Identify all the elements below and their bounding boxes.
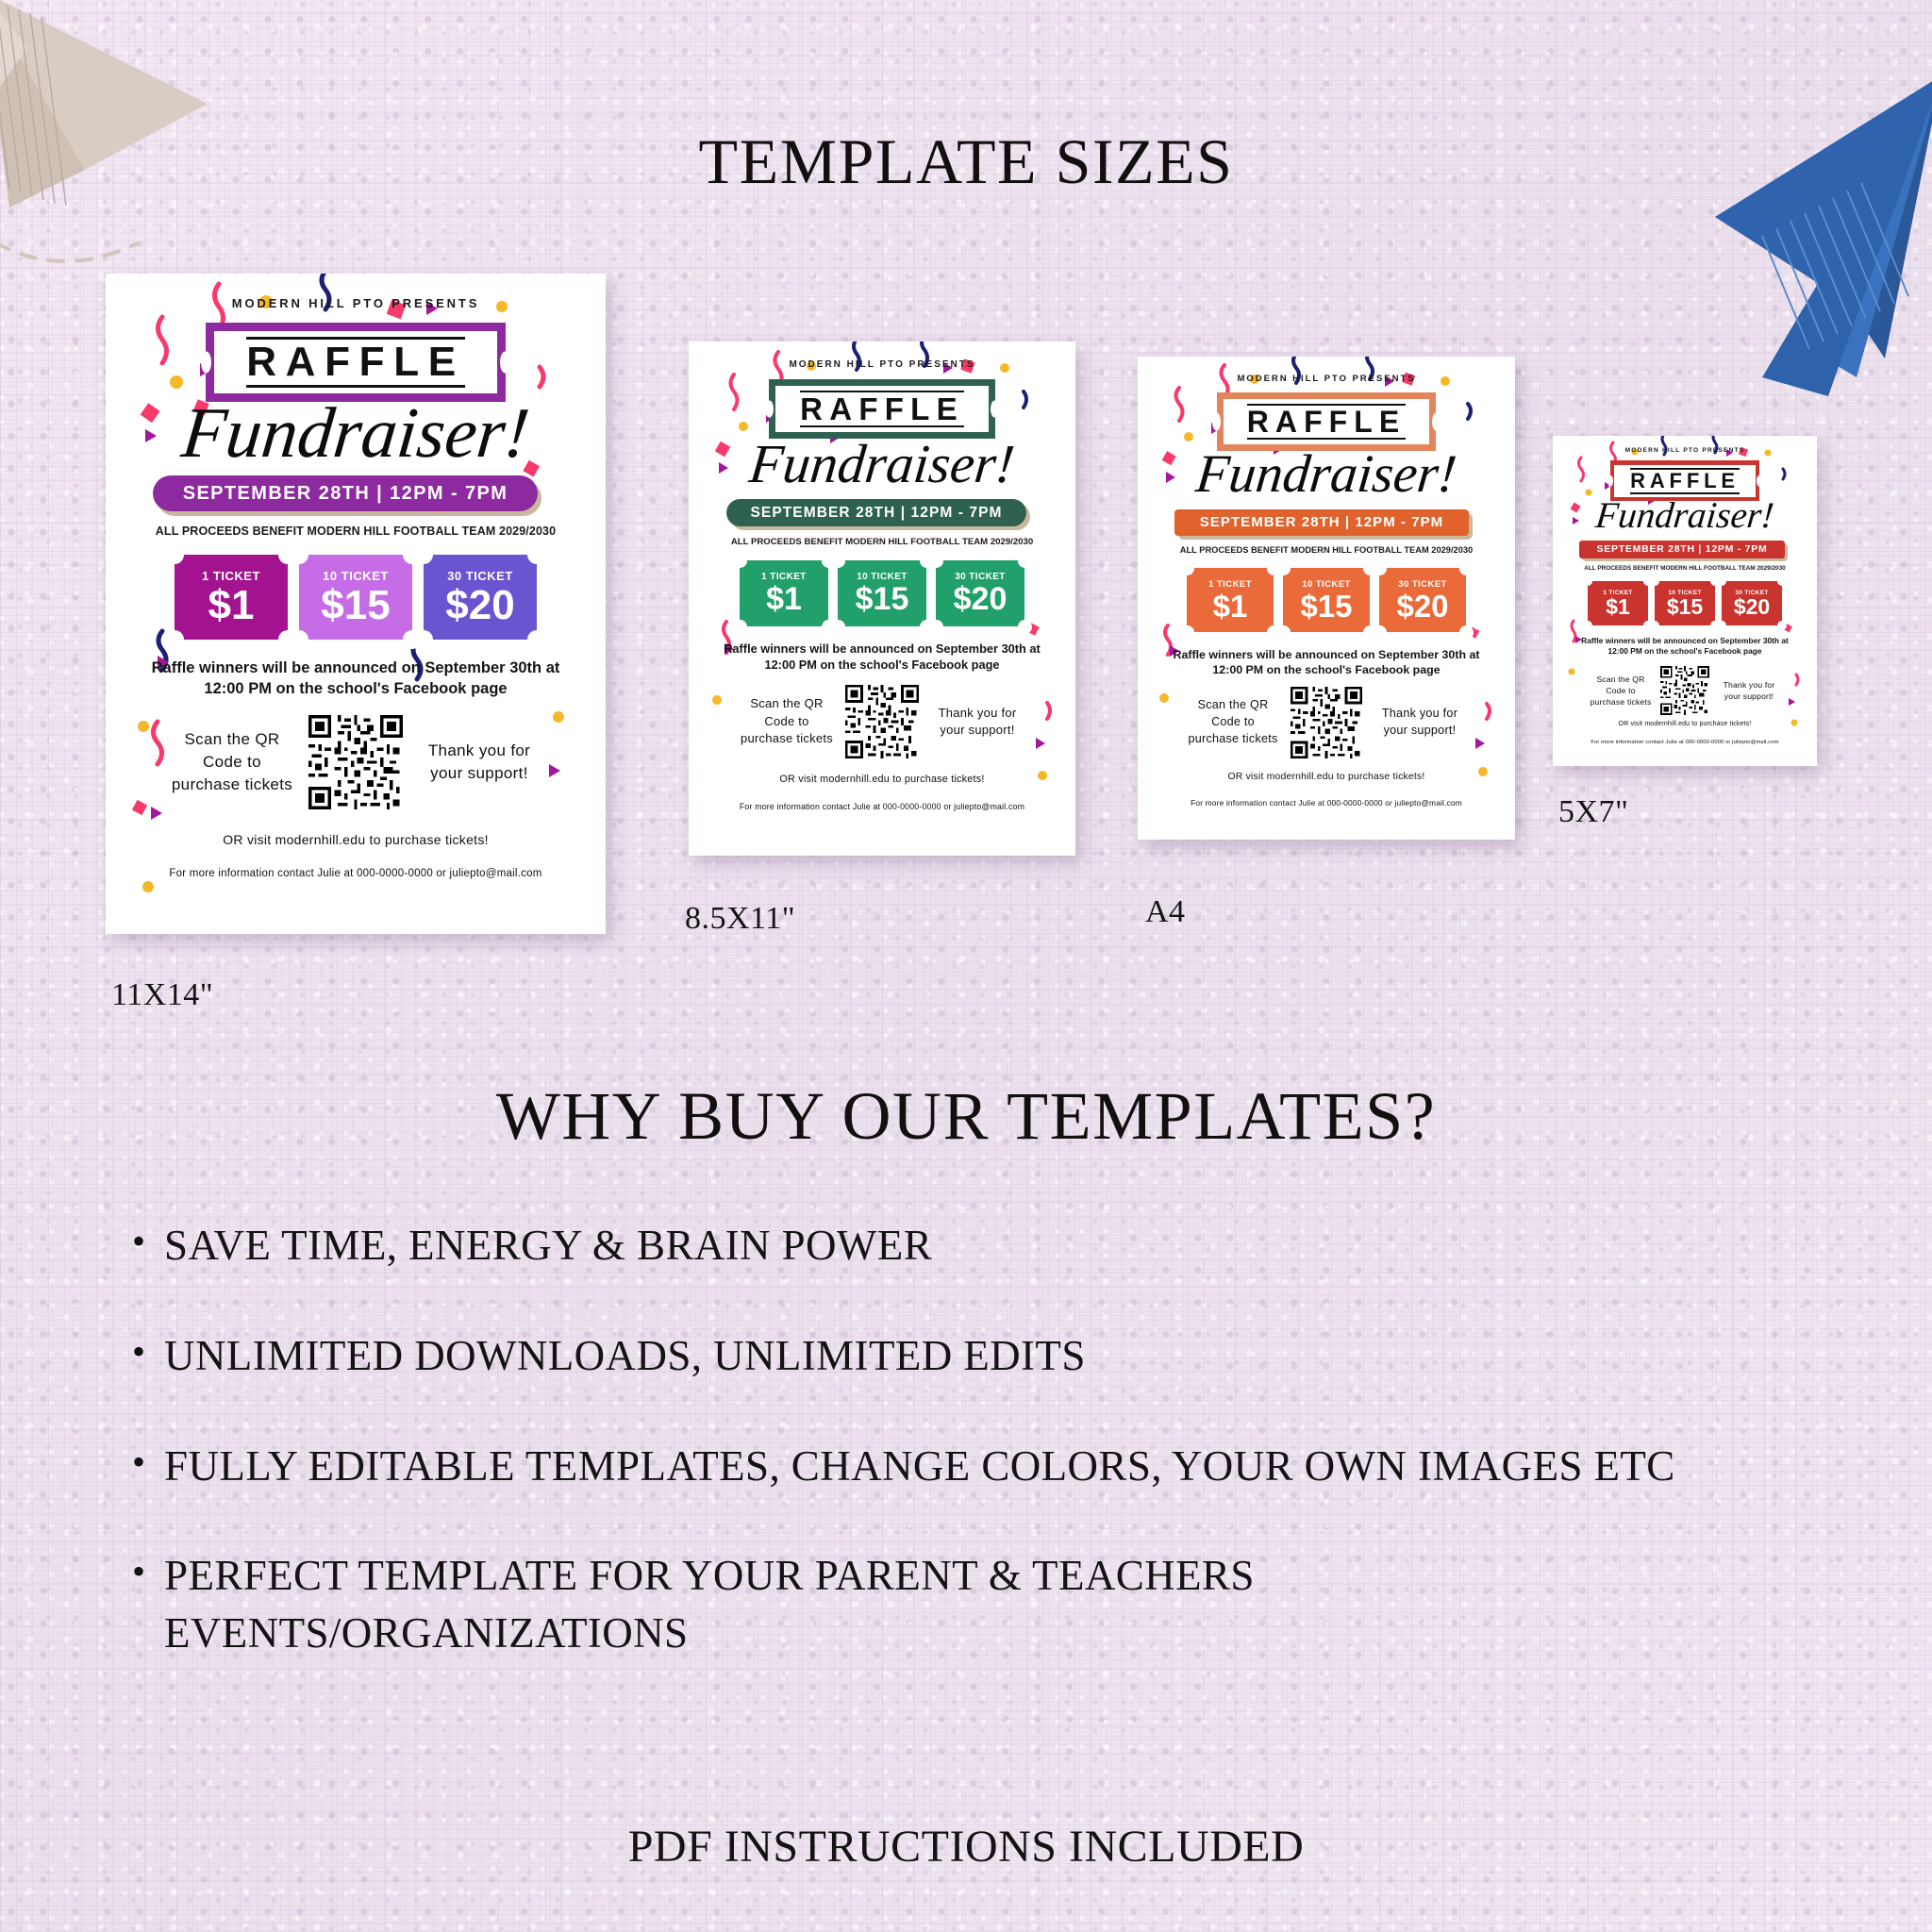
list-item: • FULLY EDITABLE TEMPLATES, CHANGE COLOR… <box>132 1438 1821 1495</box>
announce-line-1: Raffle winners will be announced on Sept… <box>708 641 1057 658</box>
ticket-label: 1 TICKET <box>202 569 260 583</box>
ticket-price: $20 <box>1396 591 1448 622</box>
ticket-option[interactable]: 30 TICKET $20 <box>1722 581 1782 625</box>
announce-line-2: 12:00 PM on the school's Facebook page <box>1155 662 1498 677</box>
scan-instructions-text: Scan the QR Code to purchase tickets <box>1187 697 1279 748</box>
ticket-price: $20 <box>954 583 1008 615</box>
announce-line-1: Raffle winners will be announced on Sept… <box>1155 647 1498 662</box>
flyer-proceeds-text: ALL PROCEEDS BENEFIT MODERN HILL FOOTBAL… <box>1553 565 1817 572</box>
contact-info-text: For more information contact Julie at 00… <box>1145 798 1507 808</box>
size-label-11x14: 11X14" <box>111 977 213 1013</box>
flyer-presents-text: MODERN HILL PTO PRESENTS <box>689 359 1075 370</box>
ticket-option[interactable]: 30 TICKET $20 <box>936 560 1024 626</box>
flyer-fundraiser-word: Fundraiser! <box>689 432 1075 495</box>
ticket-price: $15 <box>321 585 390 626</box>
list-item: • UNLIMITED DOWNLOADS, UNLIMITED EDITS <box>132 1327 1821 1385</box>
size-label-85x11: 8.5X11" <box>685 901 795 937</box>
ticket-option[interactable]: 1 TICKET $1 <box>1187 568 1274 632</box>
page-title-why-buy: WHY BUY OUR TEMPLATES? <box>0 1077 1932 1156</box>
ticket-price: $20 <box>1734 596 1770 618</box>
qr-code-image[interactable] <box>1291 687 1362 758</box>
announce-line-2: 12:00 PM on the school's Facebook page <box>132 679 579 700</box>
contact-info-text: For more information contact Julie at 00… <box>1558 740 1811 745</box>
flyer-raffle-word: RAFFLE <box>800 391 964 427</box>
ticket-price: $15 <box>856 583 909 615</box>
or-visit-text: OR visit modernhill.edu to purchase tick… <box>1553 721 1817 727</box>
list-item: • PERFECT TEMPLATE FOR YOUR PARENT & TEA… <box>132 1547 1821 1662</box>
bullet-icon: • <box>132 1333 145 1371</box>
flyer-preview-85x11[interactable]: MODERN HILL PTO PRESENTS RAFFLE Fundrais… <box>689 341 1075 856</box>
ticket-label: 30 TICKET <box>1398 579 1446 590</box>
ticket-option[interactable]: 1 TICKET $1 <box>175 555 288 640</box>
announce-line-2: 12:00 PM on the school's Facebook page <box>1564 646 1806 657</box>
contact-info-text: For more information contact Julie at 00… <box>696 802 1068 811</box>
qr-code-image[interactable] <box>845 685 919 758</box>
ticket-label: 30 TICKET <box>447 569 513 583</box>
ticket-option[interactable]: 10 TICKET $15 <box>299 555 412 640</box>
contact-info-text: For more information contact Julie at 00… <box>115 868 596 879</box>
size-label-a4: A4 <box>1145 894 1186 930</box>
ticket-price: $15 <box>1300 591 1352 622</box>
ticket-option[interactable]: 10 TICKET $15 <box>838 560 926 626</box>
flyer-presents-text: MODERN HILL PTO PRESENTS <box>1553 447 1817 454</box>
or-visit-text: OR visit modernhill.edu to purchase tick… <box>689 774 1075 785</box>
thank-you-text: Thank you for your support! <box>930 705 1024 740</box>
flyer-raffle-word: RAFFLE <box>1247 404 1406 440</box>
or-visit-text: OR visit modernhill.edu to purchase tick… <box>106 832 606 847</box>
pdf-instructions-note: PDF INSTRUCTIONS INCLUDED <box>0 1821 1932 1873</box>
flyer-preview-a4[interactable]: MODERN HILL PTO PRESENTS RAFFLE Fundrais… <box>1138 357 1515 840</box>
announce-line-1: Raffle winners will be announced on Sept… <box>1564 636 1806 646</box>
benefit-text: PERFECT TEMPLATE FOR YOUR PARENT & TEACH… <box>164 1547 1768 1662</box>
ticket-option[interactable]: 30 TICKET $20 <box>424 555 537 640</box>
flyer-raffle-word: RAFFLE <box>246 337 465 388</box>
ticket-price: $20 <box>445 585 514 626</box>
benefits-list: • SAVE TIME, ENERGY & BRAIN POWER • UNLI… <box>132 1217 1821 1715</box>
ticket-option[interactable]: 10 TICKET $15 <box>1655 581 1715 625</box>
ticket-price: $15 <box>1667 596 1703 618</box>
scan-instructions-text: Scan the QR Code to purchase tickets <box>740 695 834 747</box>
scan-instructions-text: Scan the QR Code to purchase tickets <box>171 728 293 796</box>
flyer-fundraiser-word: Fundraiser! <box>1138 443 1515 505</box>
or-visit-text: OR visit modernhill.edu to purchase tick… <box>1138 772 1515 782</box>
page-title-template-sizes: TEMPLATE SIZES <box>0 125 1932 199</box>
size-label-5x7: 5X7" <box>1558 794 1628 830</box>
flyer-date-pill: SEPTEMBER 28TH | 12PM - 7PM <box>1579 541 1785 558</box>
ticket-price: $1 <box>766 583 802 615</box>
qr-code-image[interactable] <box>1660 666 1709 715</box>
bullet-icon: • <box>132 1443 145 1481</box>
flyer-preview-5x7[interactable]: MODERN HILL PTO PRESENTS RAFFLE Fundrais… <box>1553 436 1817 766</box>
bullet-icon: • <box>132 1223 145 1260</box>
flyer-proceeds-text: ALL PROCEEDS BENEFIT MODERN HILL FOOTBAL… <box>106 525 606 538</box>
flyer-proceeds-text: ALL PROCEEDS BENEFIT MODERN HILL FOOTBAL… <box>1138 545 1515 555</box>
flyer-fundraiser-word: Fundraiser! <box>106 392 606 475</box>
flyer-raffle-badge: RAFFLE <box>1217 392 1436 451</box>
flyer-raffle-badge: RAFFLE <box>206 323 506 402</box>
flyer-raffle-badge: RAFFLE <box>769 379 995 439</box>
flyer-date-pill: SEPTEMBER 28TH | 12PM - 7PM <box>726 499 1026 526</box>
ticket-label: 1 TICKET <box>1208 579 1252 590</box>
flyer-date-pill: SEPTEMBER 28TH | 12PM - 7PM <box>153 475 538 511</box>
flyer-fundraiser-word: Fundraiser! <box>1553 494 1817 537</box>
scan-instructions-text: Scan the QR Code to purchase tickets <box>1589 674 1653 708</box>
ticket-label: 10 TICKET <box>323 569 389 583</box>
flyer-presents-text: MODERN HILL PTO PRESENTS <box>1138 374 1515 384</box>
thank-you-text: Thank you for your support! <box>418 740 541 785</box>
bullet-icon: • <box>132 1553 145 1591</box>
flyer-raffle-word: RAFFLE <box>1630 468 1740 494</box>
list-item: • SAVE TIME, ENERGY & BRAIN POWER <box>132 1217 1821 1274</box>
ticket-option[interactable]: 10 TICKET $15 <box>1283 568 1370 632</box>
ticket-option[interactable]: 30 TICKET $20 <box>1379 568 1466 632</box>
ticket-price: $1 <box>1213 591 1248 622</box>
announce-line-2: 12:00 PM on the school's Facebook page <box>708 658 1057 674</box>
benefit-text: SAVE TIME, ENERGY & BRAIN POWER <box>164 1217 932 1274</box>
benefit-text: UNLIMITED DOWNLOADS, UNLIMITED EDITS <box>164 1327 1086 1385</box>
flyer-presents-text: MODERN HILL PTO PRESENTS <box>106 296 606 310</box>
ticket-label: 10 TICKET <box>1302 579 1350 590</box>
benefit-text: FULLY EDITABLE TEMPLATES, CHANGE COLORS,… <box>164 1438 1675 1495</box>
flyer-preview-11x14[interactable]: MODERN HILL PTO PRESENTS RAFFLE Fundrais… <box>106 274 606 934</box>
ticket-price: $1 <box>1606 596 1630 618</box>
thank-you-text: Thank you for your support! <box>1374 706 1466 740</box>
flyer-proceeds-text: ALL PROCEEDS BENEFIT MODERN HILL FOOTBAL… <box>689 537 1075 547</box>
announce-line-1: Raffle winners will be announced on Sept… <box>132 658 579 679</box>
qr-code-image[interactable] <box>308 715 403 809</box>
thank-you-text: Thank you for your support! <box>1717 679 1781 702</box>
flyer-date-pill: SEPTEMBER 28TH | 12PM - 7PM <box>1174 509 1469 536</box>
ticket-price: $1 <box>208 585 255 626</box>
ticket-option[interactable]: 1 TICKET $1 <box>1588 581 1648 625</box>
ticket-option[interactable]: 1 TICKET $1 <box>740 560 828 626</box>
